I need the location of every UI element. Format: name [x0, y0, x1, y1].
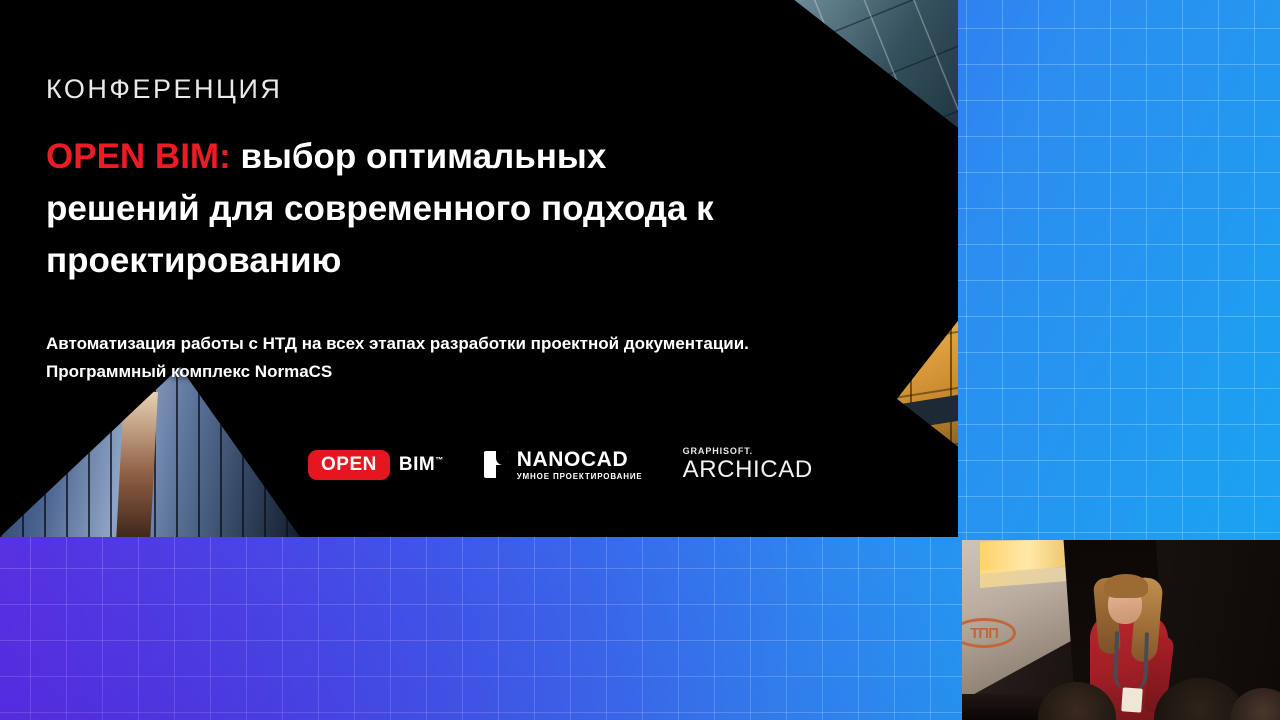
webinar-stage: КОНФЕРЕНЦИЯ OPEN BIM: выбор оптимальных … [0, 0, 1280, 720]
open-bim-logo: OPEN BIM™ [308, 450, 444, 480]
nanocad-word: NANOCAD [517, 449, 643, 470]
slide-title: OPEN BIM: выбор оптимальных решений для … [46, 131, 746, 287]
slide-subtitle: Автоматизация работы с НТД на всех этапа… [46, 330, 786, 385]
presenter-video-inset: ТПП [962, 540, 1280, 720]
presenter-badge [1121, 687, 1143, 712]
archicad-logo: GRAPHISOFT. ARCHICAD [683, 447, 813, 482]
open-bim-pill-text: OPEN [308, 450, 390, 480]
presenter-lanyard [1113, 631, 1149, 690]
logo-strip: OPEN BIM™ NANOCAD УМНОЕ ПРОЕКТИРОВАНИЕ G… [308, 447, 813, 482]
nanocad-mark-icon [484, 451, 509, 478]
graphisoft-word: GRAPHISOFT. [683, 447, 813, 456]
trademark-icon: ™ [435, 456, 444, 465]
archicad-word: ARCHICAD [683, 458, 813, 482]
presenter-hair-top [1104, 574, 1148, 598]
slide-kicker: КОНФЕРЕНЦИЯ [46, 74, 282, 105]
nanocad-tagline: УМНОЕ ПРОЕКТИРОВАНИЕ [517, 473, 643, 481]
nanocad-text-block: NANOCAD УМНОЕ ПРОЕКТИРОВАНИЕ [517, 449, 643, 481]
presentation-slide: КОНФЕРЕНЦИЯ OPEN BIM: выбор оптимальных … [0, 0, 958, 537]
nanocad-logo: NANOCAD УМНОЕ ПРОЕКТИРОВАНИЕ [484, 449, 643, 481]
slide-title-highlight: OPEN BIM: [46, 137, 231, 176]
open-bim-word: BIM™ [399, 455, 444, 474]
open-bim-word-text: BIM [399, 454, 435, 475]
